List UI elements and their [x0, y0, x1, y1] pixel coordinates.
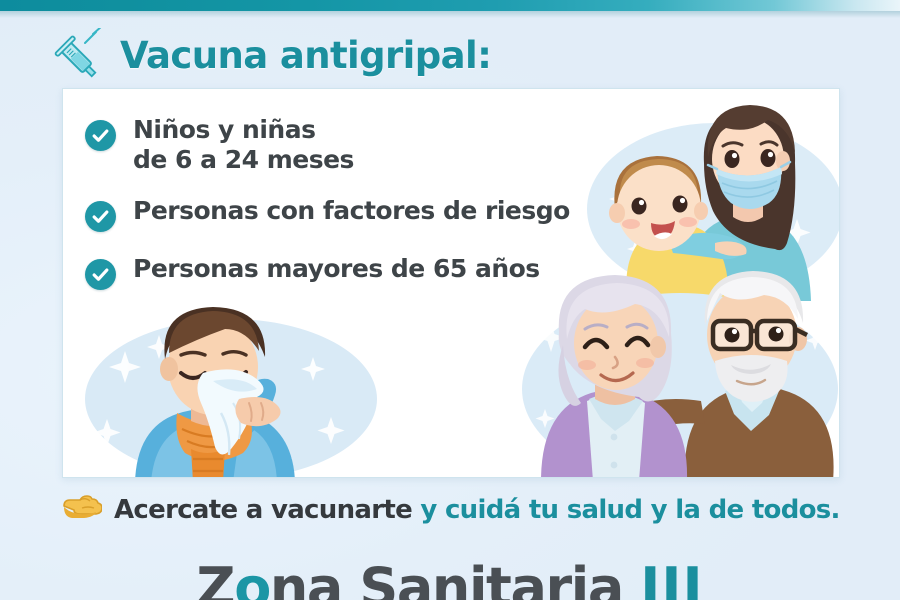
- cta-text-teal: y cuidá tu salud y la de todos.: [420, 495, 839, 525]
- sick-man-illustration: [81, 307, 381, 478]
- page-title: Vacuna antigripal:: [120, 34, 491, 77]
- check-circle-icon: [85, 259, 116, 290]
- brand-zone-number: III: [640, 556, 703, 600]
- list-item-label: Niños y niñas de 6 a 24 meses: [133, 115, 354, 174]
- eligibility-list: Niños y niñas de 6 a 24 meses Personas c…: [85, 115, 630, 290]
- top-bar-shadow: [0, 11, 900, 18]
- list-item-label: Personas mayores de 65 años: [133, 254, 540, 284]
- poster-header: Vacuna antigripal:: [52, 28, 491, 82]
- elderly-couple-illustration: [515, 269, 840, 478]
- call-to-action: Acercate a vacunarte y cuidá tu salud y …: [62, 494, 840, 526]
- cta-text-dark: Acercate a vacunarte: [114, 495, 412, 525]
- check-circle-icon: [85, 201, 116, 232]
- brand-letter-z: Z: [196, 556, 234, 600]
- syringe-icon: [52, 28, 106, 82]
- list-item-label: Personas con factores de riesgo: [133, 196, 570, 226]
- list-item: Personas mayores de 65 años: [85, 254, 630, 290]
- brand-title: Zona Sanitaria III: [0, 556, 900, 600]
- cta-text: Acercate a vacunarte y cuidá tu salud y …: [114, 495, 840, 525]
- check-circle-icon: [85, 120, 116, 151]
- top-teal-bar: [0, 0, 900, 11]
- brand-letter-o: o: [234, 556, 270, 600]
- info-card: Niños y niñas de 6 a 24 meses Personas c…: [62, 88, 840, 478]
- list-item: Niños y niñas de 6 a 24 meses: [85, 115, 630, 174]
- brand-name-rest: na Sanitaria: [270, 556, 623, 600]
- pointing-hand-icon: [62, 494, 102, 526]
- list-item: Personas con factores de riesgo: [85, 196, 630, 232]
